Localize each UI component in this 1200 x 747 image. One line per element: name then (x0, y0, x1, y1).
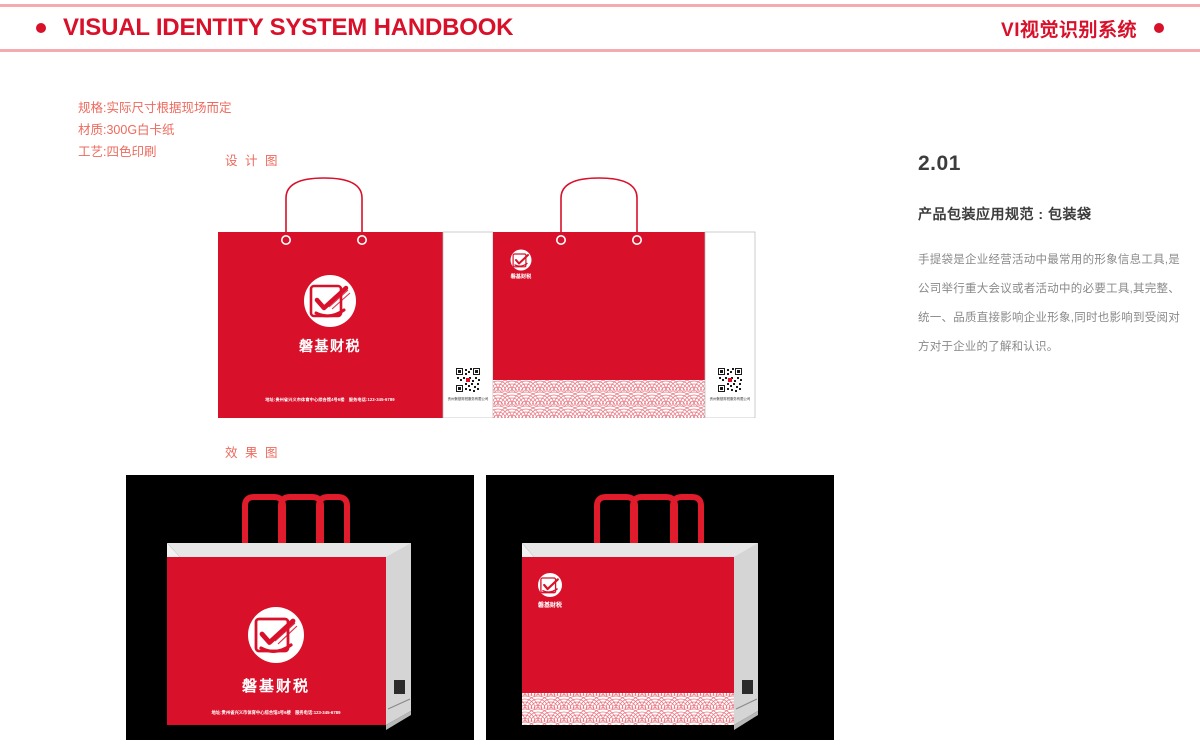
section-subtitle: 产品包装应用规范 : 包装袋 (918, 204, 1180, 224)
spec-line-process: 工艺:四色印刷 (78, 141, 231, 163)
page-header: VISUAL IDENTITY SYSTEM HANDBOOK VI视觉识别系统 (0, 7, 1200, 49)
mockup-back-logo-label: 磐基财税 (537, 601, 562, 609)
back-logo-label: 磐基财税 (510, 272, 533, 280)
header-left-group: VISUAL IDENTITY SYSTEM HANDBOOK (36, 14, 513, 42)
qr-caption-right: 贵州磐基财税服务有限公司 (710, 396, 751, 401)
bag-gusset-right: 贵州磐基财税服务有限公司 (705, 232, 755, 418)
back-logo-mark (511, 250, 532, 271)
section-number: 2.01 (918, 152, 1180, 176)
bag-flat-artwork: 磐基财税 地址:贵州省兴义市体育中心综合馆4号6楼 服务电话:123-345-6… (218, 168, 783, 418)
header-right-group: VI视觉识别系统 (1001, 15, 1164, 42)
mockup-back-logo-mark (538, 573, 562, 597)
bag-front-panel: 磐基财税 地址:贵州省兴义市体育中心综合馆4号6楼 服务电话:123-345-6… (218, 178, 443, 418)
page-root: VISUAL IDENTITY SYSTEM HANDBOOK VI视觉识别系统… (0, 0, 1200, 747)
mockup-front-logo-label: 磐基财税 (241, 677, 310, 695)
front-logo-label: 磐基财税 (298, 338, 361, 354)
header-title-cn: VI视觉识别系统 (1001, 15, 1137, 42)
caption-mockup: 效 果 图 (225, 442, 279, 461)
spec-line-size: 规格:实际尺寸根据现场而定 (78, 97, 231, 119)
bullet-dot-icon-right (1154, 23, 1164, 33)
right-info-panel: 2.01 产品包装应用规范 : 包装袋 手提袋是企业经营活动中最常用的形象信息工… (918, 152, 1180, 362)
header-title-en: VISUAL IDENTITY SYSTEM HANDBOOK (63, 14, 513, 42)
bullet-dot-icon (36, 23, 46, 33)
bag-back-mockup: 磐基财税 (486, 475, 834, 740)
bag-gusset-left: 贵州磐基财税服务有限公司 (443, 232, 493, 418)
front-footer-text: 地址:贵州省兴义市体育中心综合馆4号6楼 服务电话:123-345-6789 (265, 396, 395, 403)
qr-caption-left: 贵州磐基财税服务有限公司 (448, 396, 489, 401)
header-rule-bottom (0, 49, 1200, 52)
bag-front-mockup: 磐基财税 地址:贵州省兴义市体育中心综合馆4号6楼 服务电话:123-345-6… (126, 475, 474, 740)
qr-code-icon-right (718, 368, 742, 392)
section-body-text: 手提袋是企业经营活动中最常用的形象信息工具,是公司举行重大会议或者活动中的必要工… (918, 246, 1180, 362)
qr-code-icon (456, 368, 480, 392)
bag-back-panel: 磐基财税 (493, 178, 705, 418)
mockup-front-footer: 地址:贵州省兴义市体育中心综合馆4号6楼 服务电话:123-345-6789 (212, 709, 342, 716)
spec-line-material: 材质:300G白卡纸 (78, 119, 231, 141)
spec-block: 规格:实际尺寸根据现场而定 材质:300G白卡纸 工艺:四色印刷 (78, 97, 231, 163)
caption-design: 设 计 图 (225, 150, 279, 169)
